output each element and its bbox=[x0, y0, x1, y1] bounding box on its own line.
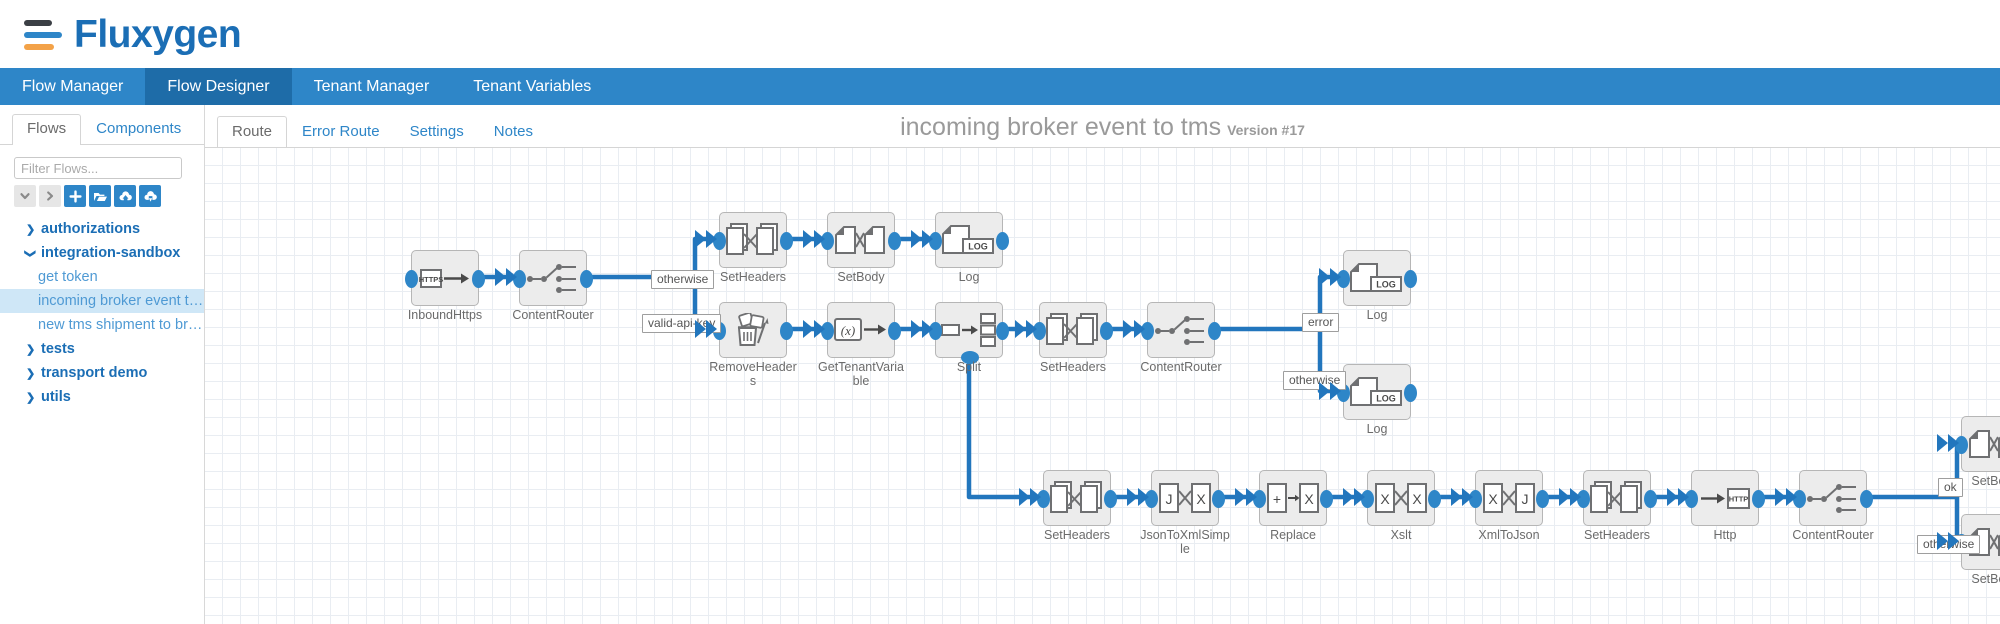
flow-canvas-wrapper[interactable]: HTTPSInboundHttpsContentRouterSetHeaders… bbox=[205, 147, 2000, 624]
edge-label-error: error bbox=[1302, 313, 1339, 332]
chevron-right-icon: ❯ bbox=[26, 367, 35, 380]
flow-node-label: GetTenantVariable bbox=[816, 360, 906, 388]
connection-arrow bbox=[1343, 488, 1369, 505]
connection-arrow bbox=[1319, 382, 1345, 399]
svg-text:X: X bbox=[1196, 491, 1206, 507]
flow-node-gettenantvariable[interactable]: (x) bbox=[827, 302, 895, 358]
tree-group-label: tests bbox=[41, 341, 75, 357]
route-tabs: Route Error Route Settings Notes bbox=[205, 116, 548, 147]
flow-node-label: JsonToXmlSimple bbox=[1140, 528, 1230, 556]
flow-node-label: RemoveHeaders bbox=[708, 360, 798, 388]
fluxygen-bars-logo-icon bbox=[18, 14, 64, 54]
flow-node-label: Split bbox=[924, 360, 1014, 374]
collapse-all-button[interactable] bbox=[14, 185, 36, 207]
tree-group-label: utils bbox=[41, 389, 71, 405]
svg-text:+: + bbox=[1273, 491, 1281, 507]
flow-node-label: Log bbox=[1332, 422, 1422, 436]
connection-arrow bbox=[1937, 434, 1963, 451]
tree-group-label: transport demo bbox=[41, 365, 147, 381]
flow-version: Version #17 bbox=[1227, 122, 1305, 138]
chevron-down-icon: ❯ bbox=[24, 249, 37, 258]
connection-arrow bbox=[1015, 320, 1041, 337]
flow-node-xmltojson[interactable]: XJ bbox=[1475, 470, 1543, 526]
upload-cloud-button[interactable] bbox=[114, 185, 136, 207]
connection-arrow bbox=[1667, 488, 1693, 505]
flow-node-label: SetHeaders bbox=[1028, 360, 1118, 374]
connection-arrow bbox=[1451, 488, 1477, 505]
nav-tab-tenant-manager[interactable]: Tenant Manager bbox=[292, 68, 452, 105]
tab-route[interactable]: Route bbox=[217, 116, 287, 147]
flow-node-xslt[interactable]: XX bbox=[1367, 470, 1435, 526]
set-headers-icon bbox=[1589, 477, 1645, 519]
flow-node-label: SetBody bbox=[1950, 572, 2000, 586]
tree-group-tests[interactable]: ❯ tests bbox=[0, 337, 204, 361]
replace-icon: +X bbox=[1265, 477, 1321, 519]
node-port-out[interactable] bbox=[1320, 490, 1333, 508]
flow-node-setbody[interactable] bbox=[1961, 416, 2000, 472]
node-port-out[interactable] bbox=[1536, 490, 1549, 508]
connection-arrow bbox=[1019, 488, 1045, 505]
node-port-out[interactable] bbox=[1752, 490, 1765, 508]
sidebar-tabs: Flows Components bbox=[0, 113, 204, 145]
flow-node-removeheaders[interactable] bbox=[719, 302, 787, 358]
node-port-out[interactable] bbox=[1428, 490, 1441, 508]
nav-tab-flow-manager[interactable]: Flow Manager bbox=[0, 68, 145, 105]
connection-arrow bbox=[695, 230, 721, 247]
expand-all-button[interactable] bbox=[39, 185, 61, 207]
main-navigation: Flow Manager Flow Designer Tenant Manage… bbox=[0, 68, 2000, 105]
json-to-xml-icon: JX bbox=[1157, 477, 1213, 519]
flow-node-setheaders[interactable] bbox=[1583, 470, 1651, 526]
flow-node-label: XmlToJson bbox=[1464, 528, 1554, 542]
filter-flows-input[interactable] bbox=[14, 157, 182, 179]
flow-node-label: Log bbox=[1332, 308, 1422, 322]
log-icon: LOG bbox=[941, 219, 997, 261]
node-port-out[interactable] bbox=[996, 322, 1009, 340]
svg-text:X: X bbox=[1412, 491, 1422, 507]
inbound-https-icon: HTTPS bbox=[417, 257, 473, 299]
svg-text:X: X bbox=[1304, 491, 1314, 507]
tree-item-incoming-broker-event[interactable]: incoming broker event t… bbox=[0, 289, 204, 313]
node-port-out[interactable] bbox=[1212, 490, 1225, 508]
flow-node-label: ContentRouter bbox=[1136, 360, 1226, 374]
brand-name: Fluxygen bbox=[74, 15, 241, 54]
flow-node-setheaders[interactable] bbox=[719, 212, 787, 268]
connection-arrow bbox=[911, 320, 937, 337]
set-body-icon bbox=[833, 219, 889, 261]
open-folder-button[interactable] bbox=[89, 185, 111, 207]
connection-arrow bbox=[803, 320, 829, 337]
connection-arrow bbox=[1559, 488, 1585, 505]
sidebar: Flows Components bbox=[0, 105, 205, 624]
content-router-icon bbox=[525, 257, 581, 299]
node-port-out[interactable] bbox=[996, 232, 1009, 250]
set-headers-icon bbox=[1049, 477, 1105, 519]
set-body-icon bbox=[1967, 423, 2000, 465]
flow-title: incoming broker event to tms bbox=[900, 113, 1221, 141]
tab-settings[interactable]: Settings bbox=[395, 116, 479, 147]
connection-arrow bbox=[495, 268, 521, 285]
svg-text:X: X bbox=[1488, 491, 1498, 507]
tree-group-integration-sandbox[interactable]: ❯ integration-sandbox bbox=[0, 241, 204, 265]
connection-arrow bbox=[1123, 320, 1149, 337]
connection-arrow bbox=[695, 320, 721, 337]
tree-item-new-tms-shipment[interactable]: new tms shipment to br… bbox=[0, 313, 204, 337]
workspace: Flows Components bbox=[0, 105, 2000, 624]
route-tabs-bar: Route Error Route Settings Notes incomin… bbox=[205, 105, 2000, 147]
flow-node-label: SetHeaders bbox=[708, 270, 798, 284]
node-port-out[interactable] bbox=[780, 232, 793, 250]
tab-notes[interactable]: Notes bbox=[479, 116, 548, 147]
svg-text:J: J bbox=[1522, 491, 1529, 507]
flow-node-label: ContentRouter bbox=[1788, 528, 1878, 542]
node-port-out[interactable] bbox=[1860, 490, 1873, 508]
connection-arrow bbox=[1235, 488, 1261, 505]
flow-node-setheaders[interactable] bbox=[1039, 302, 1107, 358]
chevron-right-icon: ❯ bbox=[26, 391, 35, 404]
flow-node-inboundhttps[interactable]: HTTPS bbox=[411, 250, 479, 306]
flow-connections bbox=[205, 148, 2000, 624]
flow-node-split[interactable] bbox=[935, 302, 1003, 358]
connection-arrow bbox=[1319, 268, 1345, 285]
svg-text:X: X bbox=[1380, 491, 1390, 507]
flow-node-label: SetHeaders bbox=[1032, 528, 1122, 542]
svg-text:LOG: LOG bbox=[968, 241, 988, 251]
svg-text:LOG: LOG bbox=[1376, 393, 1396, 403]
nav-tab-flow-designer[interactable]: Flow Designer bbox=[145, 68, 291, 105]
svg-text:HTTP: HTTP bbox=[1729, 494, 1749, 503]
tree-group-authorizations[interactable]: ❯ authorizations bbox=[0, 217, 204, 241]
svg-text:(x): (x) bbox=[841, 323, 855, 338]
flow-node-label: SetBody bbox=[816, 270, 906, 284]
svg-text:LOG: LOG bbox=[1376, 279, 1396, 289]
flow-node-label: Http bbox=[1680, 528, 1770, 542]
nav-tab-tenant-variables[interactable]: Tenant Variables bbox=[451, 68, 613, 105]
log-icon: LOG bbox=[1349, 257, 1405, 299]
flow-node-label: Replace bbox=[1248, 528, 1338, 542]
flow-node-log[interactable]: LOG bbox=[935, 212, 1003, 268]
flow-node-label: Log bbox=[924, 270, 1014, 284]
tree-group-label: authorizations bbox=[41, 221, 140, 237]
svg-text:HTTPS: HTTPS bbox=[419, 275, 444, 284]
new-flow-button[interactable] bbox=[64, 185, 86, 207]
content-router-icon bbox=[1153, 309, 1209, 351]
get-tenant-var-icon: (x) bbox=[833, 309, 889, 351]
flow-node-http[interactable]: HTTP bbox=[1691, 470, 1759, 526]
flow-node-jsontoxmlsimple[interactable]: JX bbox=[1151, 470, 1219, 526]
filter-row bbox=[0, 157, 204, 179]
http-icon: HTTP bbox=[1697, 477, 1753, 519]
xml-to-json-icon: XJ bbox=[1481, 477, 1537, 519]
brand-bar: Fluxygen bbox=[0, 0, 2000, 68]
connection-arrow bbox=[911, 230, 937, 247]
node-port-out[interactable] bbox=[580, 270, 593, 288]
tree-group-label: integration-sandbox bbox=[41, 245, 180, 261]
node-port-out[interactable] bbox=[780, 322, 793, 340]
remove-headers-icon bbox=[725, 309, 781, 351]
sidebar-tab-flows[interactable]: Flows bbox=[12, 114, 81, 145]
connection-arrow bbox=[1775, 488, 1801, 505]
flow-node-label: ContentRouter bbox=[508, 308, 598, 322]
node-port-out[interactable] bbox=[888, 322, 901, 340]
xslt-icon: XX bbox=[1373, 477, 1429, 519]
flow-node-label: Xslt bbox=[1356, 528, 1446, 542]
svg-text:J: J bbox=[1166, 491, 1173, 507]
node-port-out[interactable] bbox=[1644, 490, 1657, 508]
download-cloud-button[interactable] bbox=[139, 185, 161, 207]
flow-node-contentrouter[interactable] bbox=[1799, 470, 1867, 526]
flow-node-setheaders[interactable] bbox=[1043, 470, 1111, 526]
flow-node-contentrouter[interactable] bbox=[519, 250, 587, 306]
flow-node-log[interactable]: LOG bbox=[1343, 250, 1411, 306]
node-port-out[interactable] bbox=[472, 270, 485, 288]
split-icon bbox=[941, 309, 997, 351]
tree-group-utils[interactable]: ❯ utils bbox=[0, 385, 204, 409]
edge-label-otherwise: otherwise bbox=[651, 270, 714, 289]
connection-arrow bbox=[1937, 532, 1963, 549]
node-port-out[interactable] bbox=[1104, 490, 1117, 508]
connection-arrow bbox=[1127, 488, 1153, 505]
sidebar-tab-components[interactable]: Components bbox=[81, 114, 196, 145]
main-panel: Route Error Route Settings Notes incomin… bbox=[205, 105, 2000, 624]
node-port-out[interactable] bbox=[1404, 384, 1417, 402]
set-headers-icon bbox=[725, 219, 781, 261]
node-port-out[interactable] bbox=[888, 232, 901, 250]
tab-error-route[interactable]: Error Route bbox=[287, 116, 395, 147]
flows-tree: ❯ authorizations ❯ integration-sandbox g… bbox=[0, 217, 204, 409]
node-port-out[interactable] bbox=[1100, 322, 1113, 340]
flow-node-label: SetHeaders bbox=[1572, 528, 1662, 542]
flow-node-contentrouter[interactable] bbox=[1147, 302, 1215, 358]
connection-arrow bbox=[803, 230, 829, 247]
app-root: Fluxygen Flow Manager Flow Designer Tena… bbox=[0, 0, 2000, 624]
node-port-out[interactable] bbox=[1208, 322, 1221, 340]
tree-group-transport-demo[interactable]: ❯ transport demo bbox=[0, 361, 204, 385]
flow-node-setbody[interactable] bbox=[827, 212, 895, 268]
chevron-right-icon: ❯ bbox=[26, 343, 35, 356]
flow-node-label: InboundHttps bbox=[400, 308, 490, 322]
log-icon: LOG bbox=[1349, 371, 1405, 413]
flow-node-log[interactable]: LOG bbox=[1343, 364, 1411, 420]
node-port-in[interactable] bbox=[405, 270, 418, 288]
chevron-right-icon: ❯ bbox=[26, 223, 35, 236]
flow-node-replace[interactable]: +X bbox=[1259, 470, 1327, 526]
tree-item-get-token[interactable]: get token bbox=[0, 265, 204, 289]
flow-canvas[interactable]: HTTPSInboundHttpsContentRouterSetHeaders… bbox=[205, 148, 2000, 624]
content-router-icon bbox=[1805, 477, 1861, 519]
set-headers-icon bbox=[1045, 309, 1101, 351]
node-port-out[interactable] bbox=[1404, 270, 1417, 288]
sidebar-body: ❯ authorizations ❯ integration-sandbox g… bbox=[0, 145, 204, 409]
sidebar-toolbar bbox=[0, 179, 204, 207]
edge-label-ok: ok bbox=[1938, 478, 1963, 497]
